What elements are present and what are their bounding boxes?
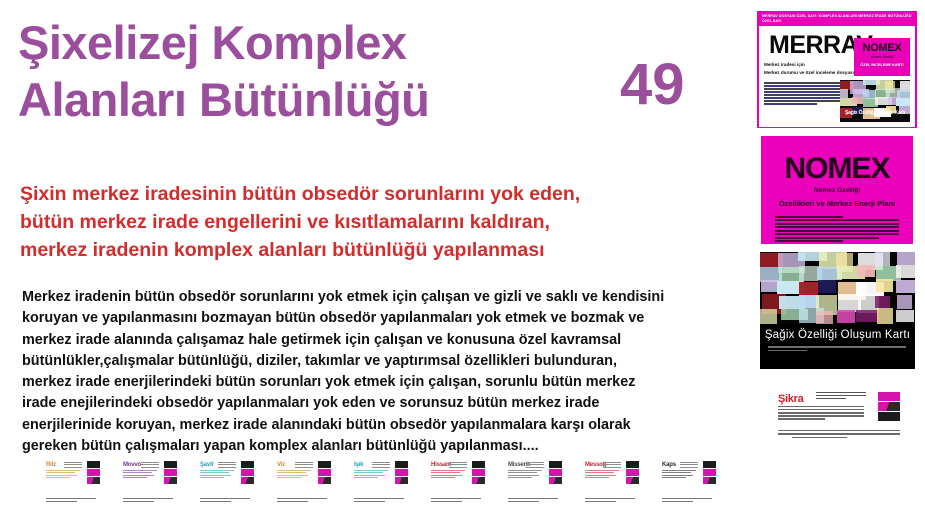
sidebar-cards-column: MERRAV DOSYASI ÖZEL SAYI: KOMPLEX ALANLA… [751,0,925,527]
sidebar-card-sagix[interactable]: Şağix Özelliği Oluşum Kartı [760,252,915,369]
thumbnail-headline-lines [680,462,698,469]
main-content-column: Şixelizej Komplex Alanları Bütünlüğü 49 … [0,0,748,527]
body-line-5: merkez irade enerjilerindeki bütün sorun… [22,372,722,393]
thumbnail-side-strip [395,461,408,491]
merrav-collage-caption: Şağix Özelliği Oluşum Kartı [840,110,910,116]
title-line-2: Alanları Bütünlüğü [18,71,618,128]
body-line-4: bütünlükler,çalışmalar bütünlüğü, dizile… [22,351,722,372]
thumbnail-body-lines [508,470,542,480]
thumbnail-card[interactable]: Şavit [198,461,254,503]
thumbnail-headline-lines [218,462,236,469]
thumbnail-body-lines [123,470,157,480]
merrav-article-text-block [764,82,840,106]
sagix-collage-image [760,252,915,324]
thumbnail-headline-lines [141,462,159,469]
thumbnail-body-lines [277,470,311,480]
subtitle-line-3: merkez iradenin komplex alanları bütünlü… [20,236,720,264]
thumbnail-body-lines [585,470,619,480]
merrav-nomex-badge: NOMEX Nomex Özelliği ÖZEL İNCELEME KARTI [854,38,910,76]
thumbnail-body-lines [354,470,388,480]
thumbnail-footer-lines [508,498,558,503]
nomex-paragraph-block [775,216,899,242]
sidebar-card-nomex[interactable]: NOMEX Nomex Özelliği Özellikleri ve Merk… [761,136,913,244]
thumbnail-footer-lines [123,498,173,503]
thumbnail-side-strip [703,461,716,491]
thumbnail-label: Rilz [46,462,56,469]
body-line-8: gereken bütün çalışmaları yapan komplex … [22,436,722,457]
merrav-subhead-2: Merkez durumu ve özel inceleme dosyası [764,70,854,76]
sagix-caption: Şağix Özelliği Oluşum Kartı [760,328,915,342]
body-line-7: enerjilerinide koruyan, merkez irade ala… [22,415,722,436]
thumbnail-headline-lines [603,462,621,469]
merrav-subhead-1: Merkez iradesi için [764,62,805,68]
thumbnail-footer-lines [200,498,250,503]
sagix-footnote-block [768,346,906,353]
body-paragraph: Merkez iradenin bütün obsedör sorunların… [22,287,722,457]
thumbnail-footer-lines [431,498,481,503]
sikra-headline-block [816,392,866,401]
body-line-6: irade enejilerindeki obsedör yapılanmala… [22,393,722,414]
merrav-badge-tag: ÖZEL İNCELEME KARTI [854,63,910,68]
thumbnail-body-lines [46,470,80,480]
merrav-badge-sub: Nomex Özelliği [854,55,910,60]
body-line-3: merkez irade alanında çalışamaz hale get… [22,330,722,351]
thumbnail-label: Şavit [200,462,213,469]
thumbnail-footer-lines [354,498,404,503]
thumbnail-headline-lines [295,462,313,469]
sikra-body-block [778,406,864,421]
thumbnail-card[interactable]: Missenk [506,461,562,503]
thumbnail-card[interactable]: Movvo [121,461,177,503]
nomex-subhead-2: Özellikleri ve Merkez Enerji Planı [761,198,913,209]
poster-page: Şixelizej Komplex Alanları Bütünlüğü 49 … [0,0,925,527]
thumbnail-side-strip [626,461,639,491]
thumbnail-footer-lines [277,498,327,503]
thumbnail-strip: RilzMovvoŞavitVizIşıkHissamMissenkMessoğ… [44,461,734,507]
thumbnail-card[interactable]: Viz [275,461,331,503]
nomex-wordmark: NOMEX [761,136,913,186]
thumbnail-card[interactable]: Kaps [660,461,716,503]
sidebar-card-sikra[interactable]: Şikra [776,390,904,442]
thumbnail-card[interactable]: Hissam [429,461,485,503]
thumbnail-headline-lines [526,462,544,469]
thumbnail-footer-lines [585,498,635,503]
title-line-1: Şixelizej Komplex [18,14,618,71]
thumbnail-side-strip [241,461,254,491]
thumbnail-side-strip [549,461,562,491]
body-line-2: koruyan ve yapılanmasını bozmayan bütün … [22,308,722,329]
nomex-subhead-1: Nomex Özelliği [761,186,913,195]
thumbnail-card[interactable]: Messoğ [583,461,639,503]
thumbnail-side-strip [472,461,485,491]
sikra-footer-block [778,430,900,441]
body-line-1: Merkez iradenin bütün obsedör sorunların… [22,287,722,308]
thumbnail-footer-lines [46,498,96,503]
merrav-badge-name: NOMEX [854,38,910,55]
thumbnail-body-lines [431,470,465,480]
thumbnail-headline-lines [372,462,390,469]
merrav-collage-thumbnail: Şağix Özelliği Oluşum Kartı [840,80,910,122]
page-title: Şixelizej Komplex Alanları Bütünlüğü [18,14,618,128]
sikra-side-strip [878,392,900,422]
sikra-wordmark: Şikra [778,393,803,406]
thumbnail-card[interactable]: Işık [352,461,408,503]
thumbnail-body-lines [662,470,696,480]
merrav-card-body: MERRAV Merkez iradesi için Merkez durumu… [759,26,915,127]
thumbnail-label: Işık [354,462,363,469]
thumbnail-headline-lines [449,462,467,469]
subtitle-line-2: bütün merkez irade engellerini ve kısıtl… [20,208,720,236]
merrav-banner-text: MERRAV DOSYASI ÖZEL SAYI: KOMPLEX ALANLA… [759,13,915,26]
thumbnail-label: Kaps [662,462,676,469]
subtitle-line-1: Şixin merkez iradesinin bütün obsedör so… [20,180,720,208]
thumbnail-side-strip [318,461,331,491]
issue-number: 49 [620,56,685,114]
thumbnail-label: Viz [277,462,285,469]
thumbnail-footer-lines [662,498,712,503]
thumbnail-side-strip [164,461,177,491]
thumbnail-body-lines [200,470,234,480]
subtitle: Şixin merkez iradesinin bütün obsedör so… [20,180,720,264]
sidebar-card-merrav[interactable]: MERRAV DOSYASI ÖZEL SAYI: KOMPLEX ALANLA… [757,11,917,128]
thumbnail-headline-lines [64,462,82,469]
thumbnail-card[interactable]: Rilz [44,461,100,503]
thumbnail-side-strip [87,461,100,491]
thumbnail-label: Movvo [123,462,141,469]
